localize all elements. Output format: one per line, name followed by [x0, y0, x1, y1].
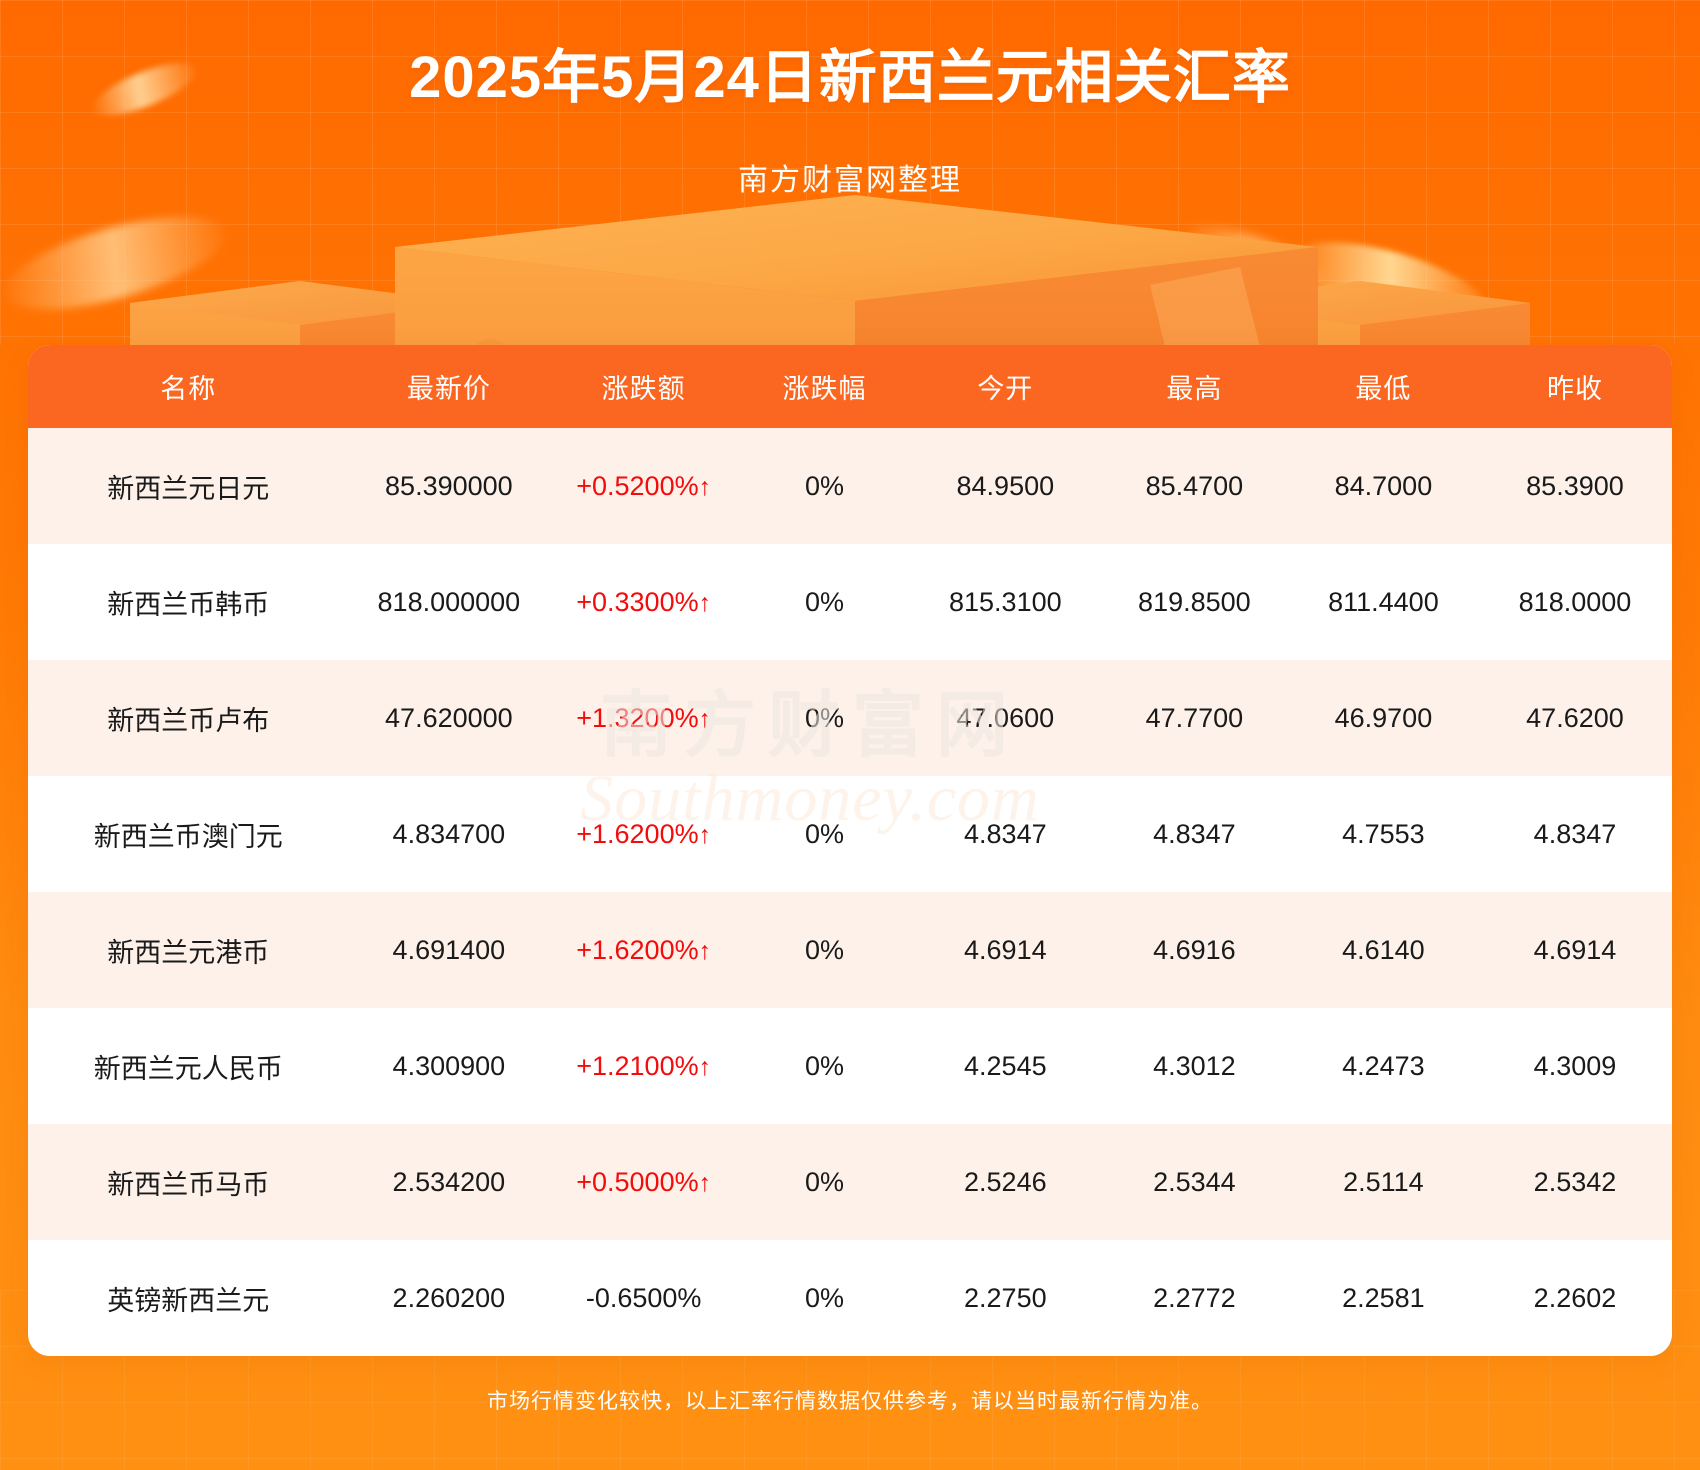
cell-high: 85.4700 [1100, 428, 1289, 544]
cell-low: 46.9700 [1289, 660, 1478, 776]
cell-last-price: 4.834700 [349, 776, 550, 892]
change-value: +1.2100% [576, 1051, 698, 1081]
hero-banner: 2025年5月24日新西兰元相关汇率 南方财富网整理 [0, 0, 1700, 345]
cell-prev-close: 818.0000 [1478, 544, 1672, 660]
cell-change: +1.3200%↑ [549, 660, 738, 776]
cell-change-pct: 0% [738, 428, 911, 544]
table-row[interactable]: 新西兰元人民币4.300900+1.2100%↑0%4.25454.30124.… [28, 1008, 1672, 1124]
cell-change: +0.5200%↑ [549, 428, 738, 544]
arrow-up-icon: ↑ [699, 1053, 712, 1081]
cell-last-price: 818.000000 [349, 544, 550, 660]
cell-low: 84.7000 [1289, 428, 1478, 544]
disclaimer-note: 市场行情变化较快，以上汇率行情数据仅供参考，请以当时最新行情为准。 [0, 1385, 1700, 1415]
table-body: 新西兰元日元85.390000+0.5200%↑0%84.950085.4700… [28, 428, 1672, 1356]
column-header-prev-close[interactable]: 昨收 [1478, 345, 1672, 428]
cell-open: 2.5246 [911, 1124, 1100, 1240]
table-row[interactable]: 新西兰元日元85.390000+0.5200%↑0%84.950085.4700… [28, 428, 1672, 544]
column-header-last-price[interactable]: 最新价 [349, 345, 550, 428]
cell-open: 84.9500 [911, 428, 1100, 544]
cell-currency-name: 新西兰元港币 [28, 892, 349, 1008]
cell-last-price: 47.620000 [349, 660, 550, 776]
cell-high: 2.2772 [1100, 1240, 1289, 1356]
change-value: +1.6200% [576, 819, 698, 849]
cell-open: 2.2750 [911, 1240, 1100, 1356]
cell-high: 4.3012 [1100, 1008, 1289, 1124]
cell-currency-name: 新西兰元人民币 [28, 1008, 349, 1124]
column-header-high[interactable]: 最高 [1100, 345, 1289, 428]
cell-change: +0.3300%↑ [549, 544, 738, 660]
arrow-up-icon: ↑ [699, 1169, 712, 1197]
page-title: 2025年5月24日新西兰元相关汇率 [0, 46, 1700, 110]
cell-currency-name: 新西兰币卢布 [28, 660, 349, 776]
cell-prev-close: 4.6914 [1478, 892, 1672, 1008]
cell-low: 811.4400 [1289, 544, 1478, 660]
cell-prev-close: 2.2602 [1478, 1240, 1672, 1356]
cell-prev-close: 2.5342 [1478, 1124, 1672, 1240]
table-row[interactable]: 英镑新西兰元2.260200-0.6500%0%2.27502.27722.25… [28, 1240, 1672, 1356]
cell-prev-close: 4.3009 [1478, 1008, 1672, 1124]
cell-high: 4.6916 [1100, 892, 1289, 1008]
change-value: +1.3200% [576, 703, 698, 733]
column-header-change-pct[interactable]: 涨跌幅 [738, 345, 911, 428]
cell-last-price: 85.390000 [349, 428, 550, 544]
cell-change-pct: 0% [738, 660, 911, 776]
cell-change-pct: 0% [738, 1008, 911, 1124]
cell-change-pct: 0% [738, 544, 911, 660]
change-value: -0.6500% [586, 1283, 702, 1313]
cell-open: 4.2545 [911, 1008, 1100, 1124]
table-row[interactable]: 新西兰币卢布47.620000+1.3200%↑0%47.060047.7700… [28, 660, 1672, 776]
cell-prev-close: 85.3900 [1478, 428, 1672, 544]
cell-low: 4.7553 [1289, 776, 1478, 892]
cell-prev-close: 47.6200 [1478, 660, 1672, 776]
exchange-rate-card: 名称 最新价 涨跌额 涨跌幅 今开 最高 最低 昨收 新西兰元日元85.3900… [28, 345, 1672, 1356]
cell-low: 2.5114 [1289, 1124, 1478, 1240]
arrow-up-icon: ↑ [699, 589, 712, 617]
arrow-up-icon: ↑ [699, 937, 712, 965]
podium-svg [0, 185, 1700, 345]
cell-change-pct: 0% [738, 1124, 911, 1240]
table-row[interactable]: 新西兰元港币4.691400+1.6200%↑0%4.69144.69164.6… [28, 892, 1672, 1008]
table-row[interactable]: 新西兰币韩币818.000000+0.3300%↑0%815.3100819.8… [28, 544, 1672, 660]
arrow-up-icon: ↑ [699, 821, 712, 849]
change-value: +1.6200% [576, 935, 698, 965]
podium-decoration [0, 185, 1700, 345]
cell-currency-name: 新西兰币韩币 [28, 544, 349, 660]
cell-change: +0.5000%↑ [549, 1124, 738, 1240]
cell-change: +1.2100%↑ [549, 1008, 738, 1124]
cell-high: 819.8500 [1100, 544, 1289, 660]
cell-currency-name: 新西兰元日元 [28, 428, 349, 544]
cell-high: 47.7700 [1100, 660, 1289, 776]
page-root: 2025年5月24日新西兰元相关汇率 南方财富网整理 名称 最新价 涨跌额 涨跌… [0, 0, 1700, 1470]
cell-currency-name: 新西兰币马币 [28, 1124, 349, 1240]
cell-open: 815.3100 [911, 544, 1100, 660]
cell-last-price: 2.534200 [349, 1124, 550, 1240]
cell-change: +1.6200%↑ [549, 776, 738, 892]
cell-high: 2.5344 [1100, 1124, 1289, 1240]
cell-change: -0.6500% [549, 1240, 738, 1356]
change-value: +0.3300% [576, 587, 698, 617]
exchange-rate-table: 名称 最新价 涨跌额 涨跌幅 今开 最高 最低 昨收 新西兰元日元85.3900… [28, 345, 1672, 1356]
cell-open: 4.6914 [911, 892, 1100, 1008]
arrow-up-icon: ↑ [699, 705, 712, 733]
table-header: 名称 最新价 涨跌额 涨跌幅 今开 最高 最低 昨收 [28, 345, 1672, 428]
column-header-open[interactable]: 今开 [911, 345, 1100, 428]
cell-open: 47.0600 [911, 660, 1100, 776]
cell-last-price: 4.300900 [349, 1008, 550, 1124]
table-row[interactable]: 新西兰币澳门元4.834700+1.6200%↑0%4.83474.83474.… [28, 776, 1672, 892]
cell-change: +1.6200%↑ [549, 892, 738, 1008]
cell-low: 2.2581 [1289, 1240, 1478, 1356]
cell-low: 4.6140 [1289, 892, 1478, 1008]
column-header-low[interactable]: 最低 [1289, 345, 1478, 428]
cell-change-pct: 0% [738, 1240, 911, 1356]
table-header-row: 名称 最新价 涨跌额 涨跌幅 今开 最高 最低 昨收 [28, 345, 1672, 428]
change-value: +0.5000% [576, 1167, 698, 1197]
cell-last-price: 4.691400 [349, 892, 550, 1008]
change-value: +0.5200% [576, 471, 698, 501]
cell-low: 4.2473 [1289, 1008, 1478, 1124]
column-header-change[interactable]: 涨跌额 [549, 345, 738, 428]
table-row[interactable]: 新西兰币马币2.534200+0.5000%↑0%2.52462.53442.5… [28, 1124, 1672, 1240]
page-subtitle: 南方财富网整理 [0, 155, 1700, 199]
cell-currency-name: 英镑新西兰元 [28, 1240, 349, 1356]
cell-change-pct: 0% [738, 892, 911, 1008]
cell-change-pct: 0% [738, 776, 911, 892]
cell-high: 4.8347 [1100, 776, 1289, 892]
cell-currency-name: 新西兰币澳门元 [28, 776, 349, 892]
cell-prev-close: 4.8347 [1478, 776, 1672, 892]
column-header-name[interactable]: 名称 [28, 345, 349, 428]
arrow-up-icon: ↑ [699, 473, 712, 501]
cell-open: 4.8347 [911, 776, 1100, 892]
cell-last-price: 2.260200 [349, 1240, 550, 1356]
